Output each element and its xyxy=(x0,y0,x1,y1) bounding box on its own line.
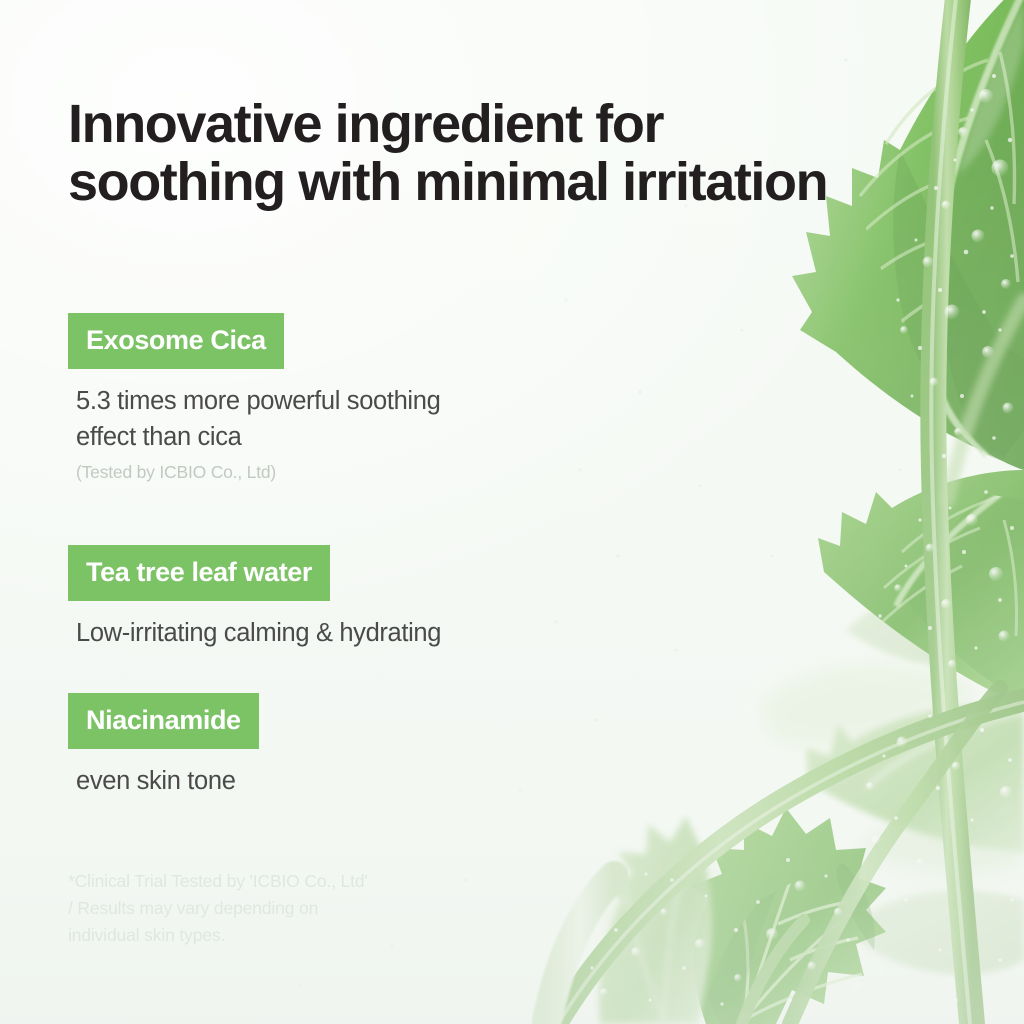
ingredient-caption-exosome-cica: (Tested by ICBIO Co., Ltd) xyxy=(76,461,440,484)
ingredient-badge-tea-tree-leaf-water: Tea tree leaf water xyxy=(68,545,330,601)
description-line-2: effect than cica xyxy=(76,419,440,455)
ingredient-description-tea-tree-leaf-water: Low-irritating calming & hydrating xyxy=(76,615,441,651)
text-content-layer: Innovative ingredient for soothing with … xyxy=(0,0,1024,1024)
description-line-1: even skin tone xyxy=(76,763,259,799)
headline-line-2: soothing with minimal irritation xyxy=(68,154,968,212)
disclaimer-line-3: individual skin types. xyxy=(68,922,368,949)
disclaimer-line-1: *Clinical Trial Tested by 'ICBIO Co., Lt… xyxy=(68,868,368,895)
headline-line-1: Innovative ingredient for xyxy=(68,96,968,154)
page-title: Innovative ingredient for soothing with … xyxy=(68,96,968,212)
disclaimer-line-2: / Results may vary depending on xyxy=(68,895,368,922)
ingredient-badge-exosome-cica: Exosome Cica xyxy=(68,313,284,369)
ingredient-badge-niacinamide: Niacinamide xyxy=(68,693,259,749)
legal-disclaimer: *Clinical Trial Tested by 'ICBIO Co., Lt… xyxy=(68,868,368,949)
product-info-graphic: Innovative ingredient for soothing with … xyxy=(0,0,1024,1024)
ingredient-description-niacinamide: even skin tone xyxy=(76,763,259,799)
description-line-1: 5.3 times more powerful soothing xyxy=(76,383,440,419)
ingredient-block-tea-tree-leaf-water: Tea tree leaf water Low-irritating calmi… xyxy=(68,545,441,651)
description-line-1: Low-irritating calming & hydrating xyxy=(76,615,441,651)
ingredient-block-exosome-cica: Exosome Cica 5.3 times more powerful soo… xyxy=(68,313,440,484)
ingredient-description-exosome-cica: 5.3 times more powerful soothing effect … xyxy=(76,383,440,455)
ingredient-block-niacinamide: Niacinamide even skin tone xyxy=(68,693,259,799)
